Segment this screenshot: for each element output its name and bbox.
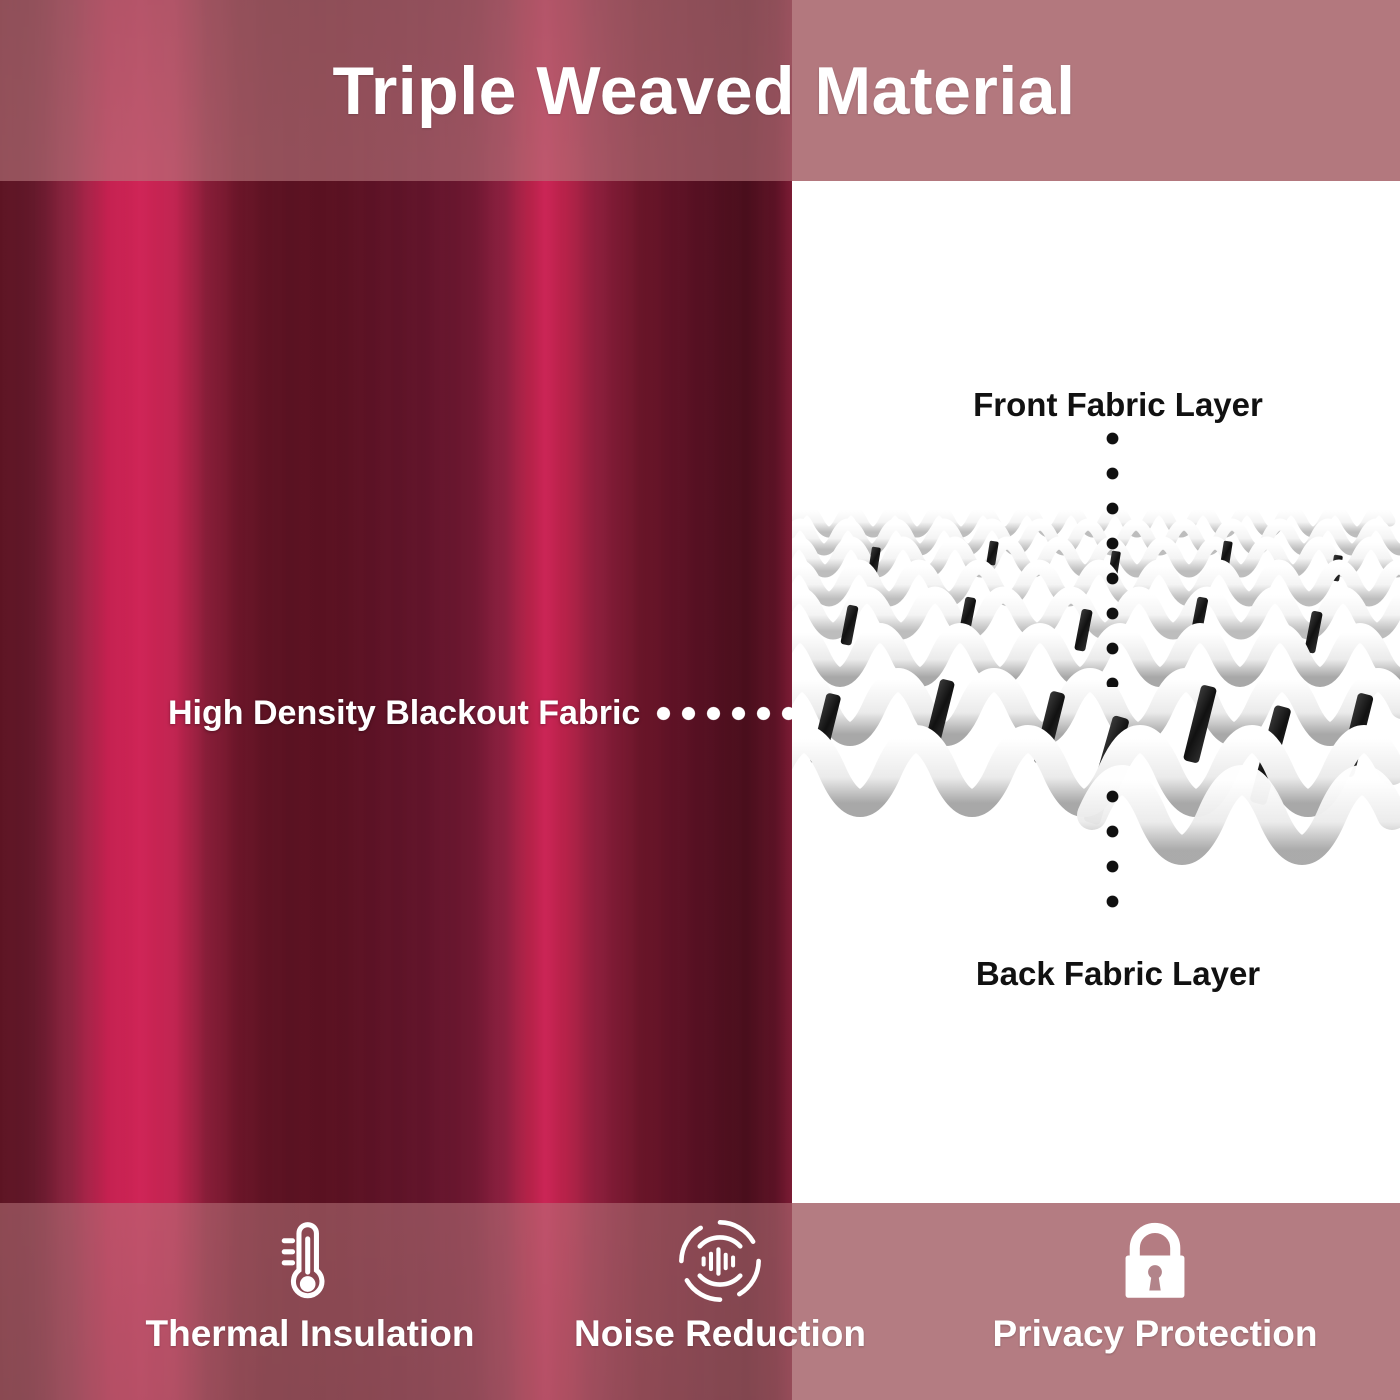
weave-row (792, 510, 1400, 850)
front-fabric-layer-label: Front Fabric Layer (918, 386, 1318, 424)
high-density-label: High Density Blackout Fabric (168, 694, 640, 733)
padlock-icon (1109, 1215, 1201, 1307)
back-layer-dotted-connector (1106, 790, 1119, 930)
feature-privacy-protection: Privacy Protection (925, 1203, 1385, 1400)
feature-noise-reduction: Noise Reduction (500, 1203, 940, 1400)
back-fabric-layer-label: Back Fabric Layer (918, 955, 1318, 993)
front-layer-dotted-connector (1106, 432, 1119, 687)
soundwave-icon (674, 1215, 766, 1307)
feature-thermal-insulation: Thermal Insulation (84, 1203, 536, 1400)
feature-label: Thermal Insulation (146, 1313, 475, 1355)
page-title: Triple Weaved Material (0, 0, 1400, 181)
feature-label: Privacy Protection (993, 1313, 1318, 1355)
weave-illustration (792, 455, 1400, 875)
infographic-stage: High Density Blackout Fabric (0, 0, 1400, 1400)
thermometer-icon (264, 1215, 356, 1307)
feature-label: Noise Reduction (574, 1313, 866, 1355)
